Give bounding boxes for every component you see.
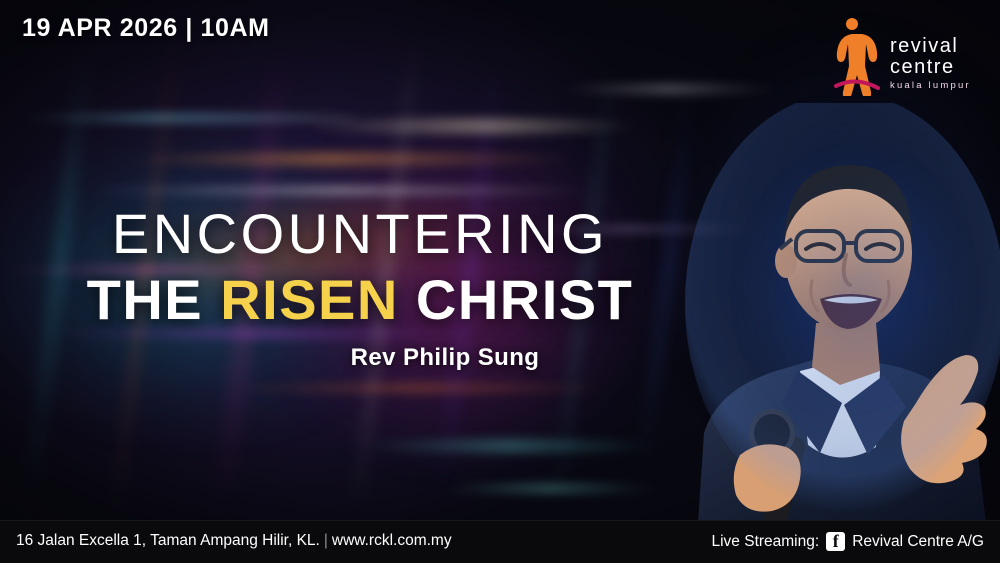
logo-name-line2: centre [890,57,971,78]
title-line-2-highlight: RISEN [220,268,399,331]
event-date-time: 19 APR 2026 | 10AM [22,14,270,43]
speaker-photo-glow [680,113,1000,513]
logo-location: kuala lumpur [890,80,971,91]
title-line-2-part1: THE [87,268,221,331]
footer-left-group: 16 Jalan Excella 1, Taman Ampang Hilir, … [16,532,452,550]
footer-right-group: Live Streaming: Revival Centre A/G [711,532,984,551]
revival-centre-logo: revival centre kuala lumpur [828,14,978,96]
footer-separator: | [320,532,332,549]
title-line-2-part2: CHRIST [399,268,634,331]
event-poster: 19 APR 2026 | 10AM revival centre kuala … [0,0,1000,563]
speaker-photo [680,103,1000,523]
title-line-1: ENCOUNTERING [0,206,720,262]
title-block: ENCOUNTERING THE RISEN CHRIST Rev Philip… [0,206,720,372]
title-line-2: THE RISEN CHRIST [0,272,720,328]
footer-bar: 16 Jalan Excella 1, Taman Ampang Hilir, … [0,520,1000,563]
facebook-page-name[interactable]: Revival Centre A/G [852,533,984,551]
website-link[interactable]: www.rckl.com.my [332,532,452,549]
logo-name-line1: revival [890,36,971,57]
live-streaming-label: Live Streaming: [711,533,819,551]
speaker-name: Rev Philip Sung [170,344,720,372]
venue-address: 16 Jalan Excella 1, Taman Ampang Hilir, … [16,532,320,549]
facebook-icon[interactable] [826,532,845,551]
